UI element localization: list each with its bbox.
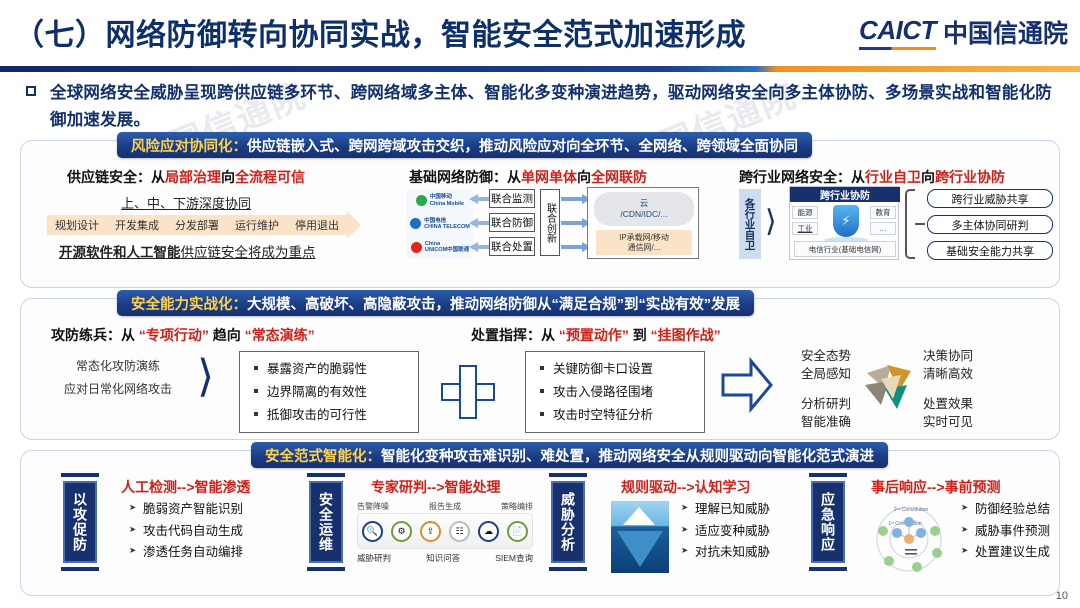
list-item: 暴露资产的脆弱性: [254, 358, 408, 381]
cross-industry-head-prefix: 跨行业网络安全：从: [739, 169, 865, 185]
caption-item: SIEM查询: [495, 552, 533, 564]
group-1-heading: 人工检测-->智能渗透: [121, 477, 251, 497]
panel-2-banner-highlight: 安全能力实战化：: [131, 297, 247, 313]
panel-security-capability: 安全能力实战化：大规模、高破坏、高隐蔽攻击，推动网络防御从“满足合规”到“实战有…: [20, 298, 1060, 440]
panel-3-banner-highlight: 安全范式智能化：: [265, 449, 381, 465]
network-defense-head-prefix: 基础网络防御：从: [409, 169, 521, 185]
security-ops-icon-row: 🔍 ⚙ ⇪ ☷ ☁ 📄: [357, 513, 533, 549]
attack-defense-drill-heading: 攻防练兵：从 “专项行动” 趋向 “常态演练”: [51, 325, 315, 345]
tab-rule-bottom: [307, 567, 345, 571]
panel-1-banner-highlight: 风险应对协同化：: [131, 139, 247, 155]
operator-name: 中国电信: [424, 218, 446, 224]
supply-chain-stages: 规划设计 开发集成 分发部署 运行维护 停用退出: [47, 215, 347, 235]
industry-cell-education: 教育: [870, 206, 896, 219]
chevron-right-icon: ⟩: [765, 207, 777, 237]
group-1-list: 脆弱资产智能识别 攻击代码自动生成 渗透任务自动编排: [129, 499, 243, 564]
page-number: 10: [1056, 590, 1068, 602]
list-item: 攻击时空特征分析: [540, 404, 694, 427]
drill-note: 常态化攻防演练 应对日常化网络攻击: [53, 355, 183, 401]
list-item: 防御经验总结: [961, 499, 1050, 521]
caict-logo-text: 中国信通院: [943, 14, 1068, 50]
china-unicom-icon: [411, 242, 422, 253]
list-item: 适应变种威胁: [681, 521, 770, 543]
header-divider: [0, 66, 1080, 72]
outcome-item: 处置效果 实时可见: [923, 395, 973, 431]
page-title: （七）网络防御转向协同实战，智能安全范式加速形成: [14, 10, 746, 54]
slide-header: （七）网络防御转向协同实战，智能安全范式加速形成 CAICT 中国信通院: [0, 0, 1080, 66]
brand-logo: CAICT 中国信通院: [859, 14, 1068, 50]
cross-industry-head-suffix: 跨行业协防: [935, 169, 1005, 185]
network-icon: ☷: [449, 521, 470, 542]
supply-chain-subtitle: 上、中、下游深度协同: [121, 193, 251, 212]
network-defense-head-suffix: 全网联防: [591, 169, 647, 185]
list-item: 对抗未知威胁: [681, 542, 770, 564]
sidebar-item-offense-drives-defense: 以攻促防: [63, 481, 97, 563]
drill-note-line2: 应对日常化网络攻击: [53, 378, 183, 401]
list-item: 处置建议生成: [961, 542, 1050, 564]
list-item: 边界隔离的有效性: [254, 381, 408, 404]
chevron-right-icon: ⟩: [197, 355, 214, 399]
graph-label-2nd: 2ⁿᵈ Convolution: [894, 507, 929, 513]
cloud-label-line2: /CDN/IDC/...: [620, 209, 667, 220]
joint-item: 联合监测: [489, 189, 535, 208]
industry-cell-energy: 能源: [792, 206, 818, 219]
outcome-item: 分析研判 智能准确: [801, 395, 851, 431]
drill-item-list: 暴露资产的脆弱性 边界隔离的有效性 抵御攻击的可行性: [239, 351, 419, 433]
list-item: 威胁事件预测: [961, 521, 1050, 543]
caption-item: 威胁研判: [357, 552, 391, 564]
command-dispatch-heading: 处置指挥：从 “预置动作” 到 “挂图作战”: [471, 325, 721, 345]
operator-logo-group: 中国移动China Mobile 中国电信CHINA TELECOM China…: [407, 189, 473, 259]
group-3-list: 理解已知威胁 适应变种威胁 对抗未知威胁: [681, 499, 770, 564]
arrow-right-icon: [721, 357, 773, 413]
drill-head-prefix: 攻防练兵：从: [51, 327, 135, 343]
panel-3-banner: 安全范式智能化：智能化变种攻击难识别、难处置，推动网络安全从规则驱动向智能化范式…: [251, 442, 888, 468]
drill-head-link: 趋向: [213, 327, 241, 343]
stage-item: 规划设计: [55, 217, 99, 233]
ipnet-line2: 通信网/...: [628, 243, 661, 253]
network-defense-head-link: 向: [577, 169, 591, 185]
dispatch-head-link: 到: [633, 327, 647, 343]
supply-chain-footnote-rest: 供应链安全将成为重点: [181, 245, 316, 260]
shield-icon: ⚡: [833, 205, 859, 237]
group-3-heading: 规则驱动-->认知学习: [621, 477, 751, 497]
group-2-heading: 专家研判-->智能处理: [371, 477, 501, 497]
operator-logo-china-telecom: 中国电信CHINA TELECOM: [410, 218, 470, 231]
plus-icon: [441, 365, 495, 419]
capability-pill: 基础安全能力共享: [927, 241, 1053, 260]
graph-convolution-icon: 2ⁿᵈ Convolution 1ˢᵗ Convolution: [871, 501, 947, 573]
caption-item: 策略编排: [501, 501, 533, 512]
supply-chain-footnote-bold: 开源软件和人工智能: [59, 245, 181, 260]
operator-logo-china-mobile: 中国移动China Mobile: [416, 194, 464, 207]
operator-name: 中国移动: [430, 194, 452, 200]
cross-industry-head-mid: 行业自卫: [865, 169, 921, 185]
list-item: 脆弱资产智能识别: [129, 499, 243, 521]
outcome-line1: 决策协同: [923, 347, 973, 365]
caption-item: 报告生成: [429, 501, 461, 512]
panel-3-banner-rest: 智能化变种攻击难识别、难处置，推动网络安全从规则驱动向智能化范式演进: [381, 449, 874, 465]
industry-self-defense-label: 各行业自卫: [739, 189, 761, 259]
capability-pill: 多主体协同研判: [927, 215, 1053, 234]
list-item: 理解已知威胁: [681, 499, 770, 521]
supply-chain-head-mid: 局部治理: [165, 169, 221, 185]
decorative-shapes: [861, 359, 921, 415]
china-mobile-icon: [416, 195, 427, 206]
drill-head-q1: “专项行动”: [139, 327, 209, 343]
drill-note-line1: 常态化攻防演练: [53, 355, 183, 378]
network-defense-heading: 基础网络防御：从单网单体向全网联防: [409, 167, 647, 187]
dispatch-head-q2: “挂图作战”: [651, 327, 721, 343]
iceberg-icon: [611, 501, 669, 573]
network-infra-box: 云 /CDN/IDC/... IP承载网/移动 通信网/...: [587, 187, 699, 259]
magnifier-icon: 🔍: [362, 521, 383, 542]
caption-item: 知识问答: [426, 552, 460, 564]
supply-chain-head-prefix: 供应链安全：从: [67, 169, 165, 185]
tab-rule-top: [809, 473, 847, 477]
supply-chain-head-link: 向: [221, 169, 235, 185]
joint-innovation-label: 联合创新: [540, 189, 560, 256]
lead-paragraph: 全球网络安全威胁呈现跨供应链多环节、跨网络域多主体、智能化多变种演进趋势，驱动网…: [22, 80, 1062, 134]
outcome-item: 安全态势 全局感知: [801, 347, 851, 383]
brace-icon: [905, 189, 915, 259]
operator-name-en: CHINA TELECOM: [424, 224, 470, 230]
caict-logo-mark: CAICT: [859, 15, 936, 50]
telecom-base-label: 电信行业(基础电信网): [794, 241, 896, 257]
square-bullet-icon: [26, 86, 36, 96]
stage-item: 停用退出: [295, 217, 339, 233]
outcome-line1: 安全态势: [801, 347, 851, 365]
panel-intelligent-paradigm: 安全范式智能化：智能化变种攻击难识别、难处置，推动网络安全从规则驱动向智能化范式…: [20, 450, 1060, 596]
outcome-item: 决策协同 清晰高效: [923, 347, 973, 383]
operator-name-en: China Mobile: [430, 201, 464, 207]
joint-item: 联合处置: [489, 237, 535, 256]
china-telecom-icon: [410, 218, 421, 229]
group-2-captions-top: 告警降噪 报告生成 策略编排: [357, 501, 533, 512]
outcome-line2: 智能准确: [801, 413, 851, 431]
cross-industry-diagram: 跨行业协防 能源 工业 教育 … ⚡ 电信行业(基础电信网): [789, 186, 899, 260]
panel-2-banner: 安全能力实战化：大规模、高破坏、高隐蔽攻击，推动网络防御从“满足合规”到“实战有…: [117, 290, 754, 316]
cloud-icon: ☁: [478, 521, 499, 542]
tab-rule-top: [307, 473, 345, 477]
joint-item: 联合防御: [489, 213, 535, 232]
stage-item: 运行维护: [235, 217, 279, 233]
ipnet-line1: IP承载网/移动: [619, 233, 669, 243]
cloud-label-line1: 云: [640, 198, 649, 209]
upload-icon: ⇪: [420, 521, 441, 542]
sidebar-item-security-operations: 安全运维: [309, 481, 343, 563]
group-4-list: 防御经验总结 威胁事件预测 处置建议生成: [961, 499, 1050, 564]
cross-industry-heading: 跨行业网络安全：从行业自卫向跨行业协防: [739, 167, 1005, 187]
list-item: 攻击入侵路径围堵: [540, 381, 694, 404]
dispatch-item-list: 关键防御卡口设置 攻击入侵路径围堵 攻击时空特征分析: [525, 351, 705, 433]
panel-1-banner: 风险应对协同化：供应链嵌入式、跨网跨域攻击交织，推动风险应对向全环节、全网络、跨…: [117, 132, 812, 158]
tab-rule-top: [61, 473, 99, 477]
tab-rule-bottom: [809, 567, 847, 571]
panel-2-banner-rest: 大规模、高破坏、高隐蔽攻击，推动网络防御从“满足合规”到“实战有效”发展: [247, 297, 740, 313]
outcome-line2: 实时可见: [923, 413, 973, 431]
cross-industry-head-link: 向: [921, 169, 935, 185]
sidebar-item-threat-analysis: 威胁分析: [551, 481, 585, 563]
outcome-line1: 处置效果: [923, 395, 973, 413]
stage-item: 开发集成: [115, 217, 159, 233]
supply-chain-footnote: 开源软件和人工智能供应链安全将成为重点: [59, 241, 316, 261]
group-2-captions-bottom: 威胁研判 知识问答 SIEM查询: [357, 552, 533, 564]
cloud-icon: 云 /CDN/IDC/...: [594, 192, 694, 226]
capability-pill: 跨行业威胁共享: [927, 189, 1053, 208]
ip-network-box: IP承载网/移动 通信网/...: [596, 230, 692, 255]
operator-logo-china-unicom: ChinaUNICOM中国联通: [411, 241, 469, 254]
list-item: 抵御攻击的可行性: [254, 404, 408, 427]
dispatch-head-q1: “预置动作”: [559, 327, 629, 343]
network-defense-head-mid: 单网单体: [521, 169, 577, 185]
tab-rule-bottom: [549, 567, 587, 571]
caption-item: 告警降噪: [357, 501, 389, 512]
lead-text: 全球网络安全威胁呈现跨供应链多环节、跨网络域多主体、智能化多变种演进趋势，驱动网…: [50, 80, 1062, 134]
operator-name-en: UNICOM中国联通: [425, 247, 469, 253]
tab-rule-bottom: [61, 567, 99, 571]
group-4-heading: 事后响应-->事前预测: [871, 477, 1001, 497]
panel-risk-collaboration: 风险应对协同化：供应链嵌入式、跨网跨域攻击交织，推动风险应对向全环节、全网络、跨…: [20, 140, 1060, 288]
document-icon: 📄: [507, 521, 528, 542]
list-item: 攻击代码自动生成: [129, 521, 243, 543]
gear-icon: ⚙: [391, 521, 412, 542]
outcome-line2: 清晰高效: [923, 365, 973, 383]
list-item: 渗透任务自动编排: [129, 542, 243, 564]
tab-rule-top: [549, 473, 587, 477]
supply-chain-heading: 供应链安全：从局部治理向全流程可信: [67, 167, 305, 187]
cross-industry-diagram-title: 跨行业协防: [790, 187, 900, 202]
sidebar-item-emergency-response: 应急响应: [811, 481, 845, 563]
list-item: 关键防御卡口设置: [540, 358, 694, 381]
stage-item: 分发部署: [175, 217, 219, 233]
dispatch-head-prefix: 处置指挥：从: [471, 327, 555, 343]
industry-cell-more: …: [870, 222, 896, 235]
panel-1-banner-rest: 供应链嵌入式、跨网跨域攻击交织，推动风险应对向全环节、全网络、跨领域全面协同: [247, 139, 798, 155]
outcome-line2: 全局感知: [801, 365, 851, 383]
brace-stub-icon: [915, 223, 925, 225]
drill-head-q2: “常态演练”: [245, 327, 315, 343]
supply-chain-head-suffix: 全流程可信: [235, 169, 305, 185]
outcome-line1: 分析研判: [801, 395, 851, 413]
industry-cell-industrial: 工业: [792, 222, 818, 235]
